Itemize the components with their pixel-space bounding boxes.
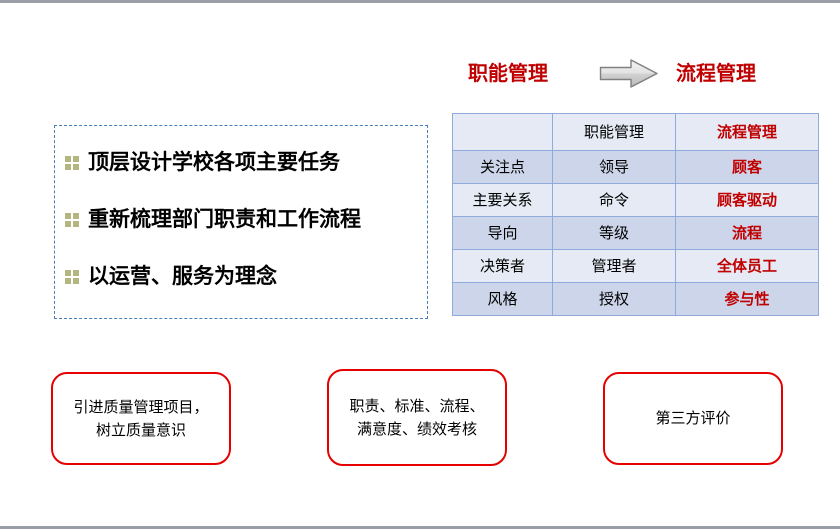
table-header-blank xyxy=(453,114,553,151)
table-row: 风格 授权 参与性 xyxy=(453,283,819,316)
callout-line: 职责、标准、流程、 xyxy=(349,395,484,418)
row-functional-value: 命令 xyxy=(553,184,676,217)
table-header-functional: 职能管理 xyxy=(553,114,676,151)
row-label: 导向 xyxy=(453,217,553,250)
row-process-value: 参与性 xyxy=(676,283,819,316)
grid-square-bullet-icon xyxy=(65,270,79,284)
row-functional-value: 授权 xyxy=(553,283,676,316)
bullet-label: 顶层设计学校各项主要任务 xyxy=(88,152,340,173)
bullet-label: 以运营、服务为理念 xyxy=(88,266,277,287)
right-arrow-icon xyxy=(598,57,660,91)
table-row: 决策者 管理者 全体员工 xyxy=(453,250,819,283)
callout-line: 树立质量意识 xyxy=(73,419,208,442)
table-header-process: 流程管理 xyxy=(676,114,819,151)
table-row: 关注点 领导 顾客 xyxy=(453,151,819,184)
row-functional-value: 管理者 xyxy=(553,250,676,283)
heading-process-management: 流程管理 xyxy=(676,63,756,83)
grid-square-bullet-icon xyxy=(65,213,79,227)
slide-canvas: 顶层设计学校各项主要任务 重新梳理部门职责和工作流程 以运营、服务为理念 职能管… xyxy=(0,0,840,529)
bullet-item: 以运营、服务为理念 xyxy=(65,266,277,287)
grid-square-bullet-icon xyxy=(65,156,79,170)
row-label: 关注点 xyxy=(453,151,553,184)
table-row: 主要关系 命令 顾客驱动 xyxy=(453,184,819,217)
row-label: 主要关系 xyxy=(453,184,553,217)
callout-box-quality-program: 引进质量管理项目， 树立质量意识 xyxy=(51,372,231,465)
bullet-panel: 顶层设计学校各项主要任务 重新梳理部门职责和工作流程 以运营、服务为理念 xyxy=(54,125,428,319)
table-row: 导向 等级 流程 xyxy=(453,217,819,250)
row-label: 风格 xyxy=(453,283,553,316)
row-label: 决策者 xyxy=(453,250,553,283)
row-process-value: 顾客 xyxy=(676,151,819,184)
comparison-table: 职能管理 流程管理 关注点 领导 顾客 主要关系 命令 顾客驱动 导向 等级 流… xyxy=(452,113,819,316)
row-process-value: 流程 xyxy=(676,217,819,250)
bullet-label: 重新梳理部门职责和工作流程 xyxy=(88,209,361,230)
callout-line: 引进质量管理项目， xyxy=(73,396,208,419)
callout-line: 满意度、绩效考核 xyxy=(349,418,484,441)
table-header-row: 职能管理 流程管理 xyxy=(453,114,819,151)
row-process-value: 顾客驱动 xyxy=(676,184,819,217)
row-functional-value: 等级 xyxy=(553,217,676,250)
bullet-item: 顶层设计学校各项主要任务 xyxy=(65,152,340,173)
bullet-item: 重新梳理部门职责和工作流程 xyxy=(65,209,361,230)
callout-box-third-party-evaluation: 第三方评价 xyxy=(603,372,783,465)
row-functional-value: 领导 xyxy=(553,151,676,184)
callout-box-responsibility-standards: 职责、标准、流程、 满意度、绩效考核 xyxy=(327,369,507,466)
heading-functional-management: 职能管理 xyxy=(468,63,548,83)
row-process-value: 全体员工 xyxy=(676,250,819,283)
callout-line: 第三方评价 xyxy=(655,407,730,430)
